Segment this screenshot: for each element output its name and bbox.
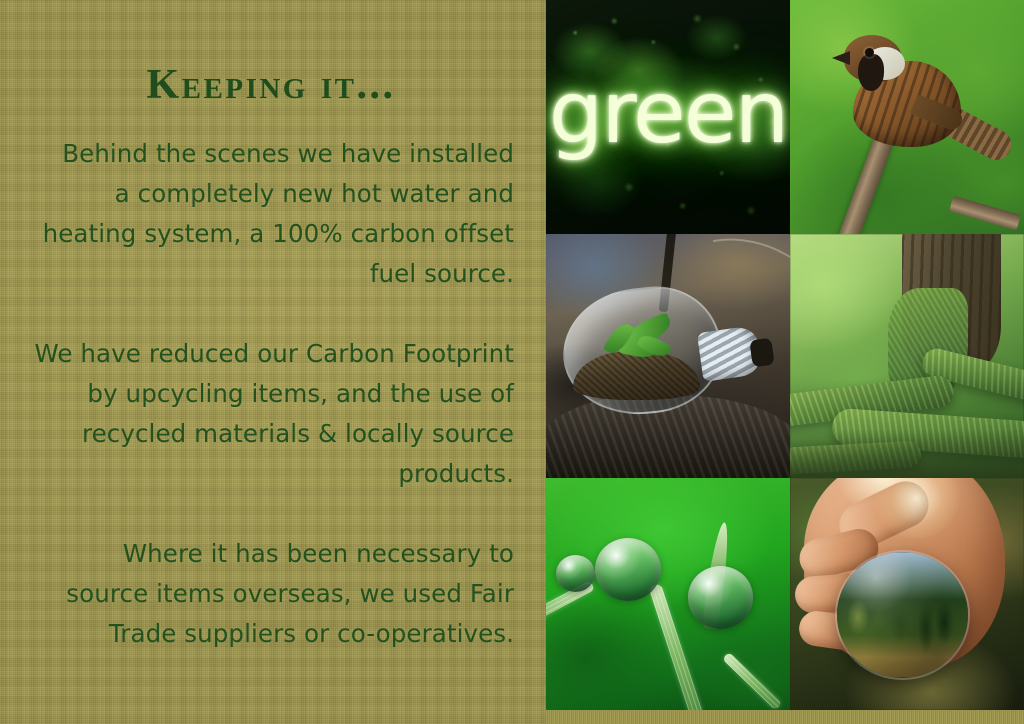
paragraph-line: a completely new hot water and [30, 174, 514, 214]
body-copy: Behind the scenes we have installed a co… [30, 134, 514, 654]
paragraph-line: We have reduced our Carbon Footprint [30, 334, 514, 374]
photo-sparrow-on-branch [790, 0, 1024, 234]
photo-neon-green-sign: green [546, 0, 790, 234]
paragraph-line: heating system, a 100% carbon offset [30, 214, 514, 254]
paragraph-line: Behind the scenes we have installed [30, 134, 514, 174]
photo-dewdrops-on-stem [546, 478, 790, 710]
poster-canvas: Keeping it... Behind the scenes we have … [0, 0, 1024, 724]
paragraph-fairtrade: Where it has been necessary to source it… [30, 534, 514, 654]
paragraph-line: Trade suppliers or co-operatives. [30, 614, 514, 654]
paragraph-line: recycled materials & locally source [30, 414, 514, 454]
neon-green-text: green [546, 63, 790, 163]
paragraph-line: by upcycling items, and the use of [30, 374, 514, 414]
sphere-highlight [837, 552, 968, 677]
paragraph-line: source items overseas, we used Fair [30, 574, 514, 614]
paragraph-footprint: We have reduced our Carbon Footprint by … [30, 334, 514, 494]
photo-lightbulb-terrarium [546, 234, 790, 478]
paragraph-line: Where it has been necessary to [30, 534, 514, 574]
photo-grid: green [546, 0, 1024, 724]
bulb-contact-tip [749, 338, 774, 368]
sparrow-bib [858, 54, 884, 91]
paragraph-line: products. [30, 454, 514, 494]
bulb-seedling [612, 310, 690, 364]
water-droplet [595, 538, 661, 601]
sparrow-eye [865, 48, 874, 57]
forest-floor [790, 429, 1024, 478]
sparrow-beak [832, 51, 850, 65]
photo-hand-holding-glass-sphere [790, 478, 1024, 710]
photo-mossy-tree-roots [790, 234, 1024, 478]
water-droplet [688, 566, 754, 629]
paragraph-line: fuel source. [30, 254, 514, 294]
text-column: Keeping it... Behind the scenes we have … [0, 0, 546, 724]
page-title: Keeping it... [30, 62, 514, 108]
glass-sphere [837, 552, 968, 677]
grid-bottom-strip [546, 710, 1024, 724]
paragraph-heating: Behind the scenes we have installed a co… [30, 134, 514, 294]
water-droplet [556, 555, 595, 592]
